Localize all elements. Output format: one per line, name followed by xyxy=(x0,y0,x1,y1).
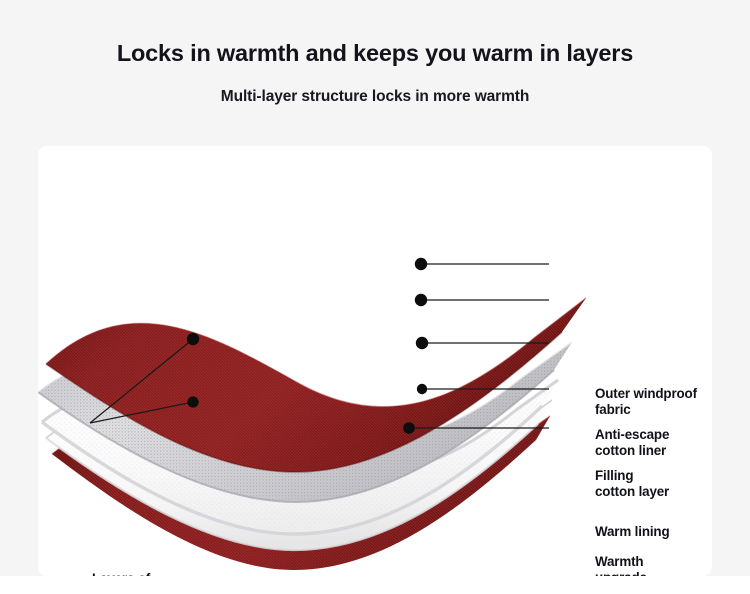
diagram-card: Outer windproof fabric Anti-escape cotto… xyxy=(38,146,712,576)
callout-dot-anti-escape xyxy=(415,294,427,306)
callout-dot-outer-windproof xyxy=(415,258,427,270)
callout-dot-filling-cotton xyxy=(416,337,428,349)
callout-label-warm-lining: Warm lining xyxy=(595,524,669,540)
callout-dot-layers-upper xyxy=(187,333,199,345)
product-feature-page: Locks in warmth and keeps you warm in la… xyxy=(0,0,750,594)
page-bottom-filler xyxy=(0,576,750,594)
page-title: Locks in warmth and keeps you warm in la… xyxy=(0,41,750,67)
callout-dot-warm-lining xyxy=(417,384,427,394)
callout-dot-layers-lower xyxy=(187,396,198,407)
callout-label-anti-escape-cotton-liner: Anti-escape cotton liner xyxy=(595,427,669,458)
callout-label-outer-windproof-fabric: Outer windproof fabric xyxy=(595,386,697,417)
page-subtitle: Multi-layer structure locks in more warm… xyxy=(0,88,750,105)
header-band: Locks in warmth and keeps you warm in la… xyxy=(0,0,750,146)
callout-dot-warmth-upgrade xyxy=(403,422,415,434)
layered-fabric-diagram: Outer windproof fabric Anti-escape cotto… xyxy=(38,146,712,576)
callout-label-filling-cotton-layer: Filling cotton layer xyxy=(595,468,669,499)
fabric-layers-illustration xyxy=(38,146,712,576)
